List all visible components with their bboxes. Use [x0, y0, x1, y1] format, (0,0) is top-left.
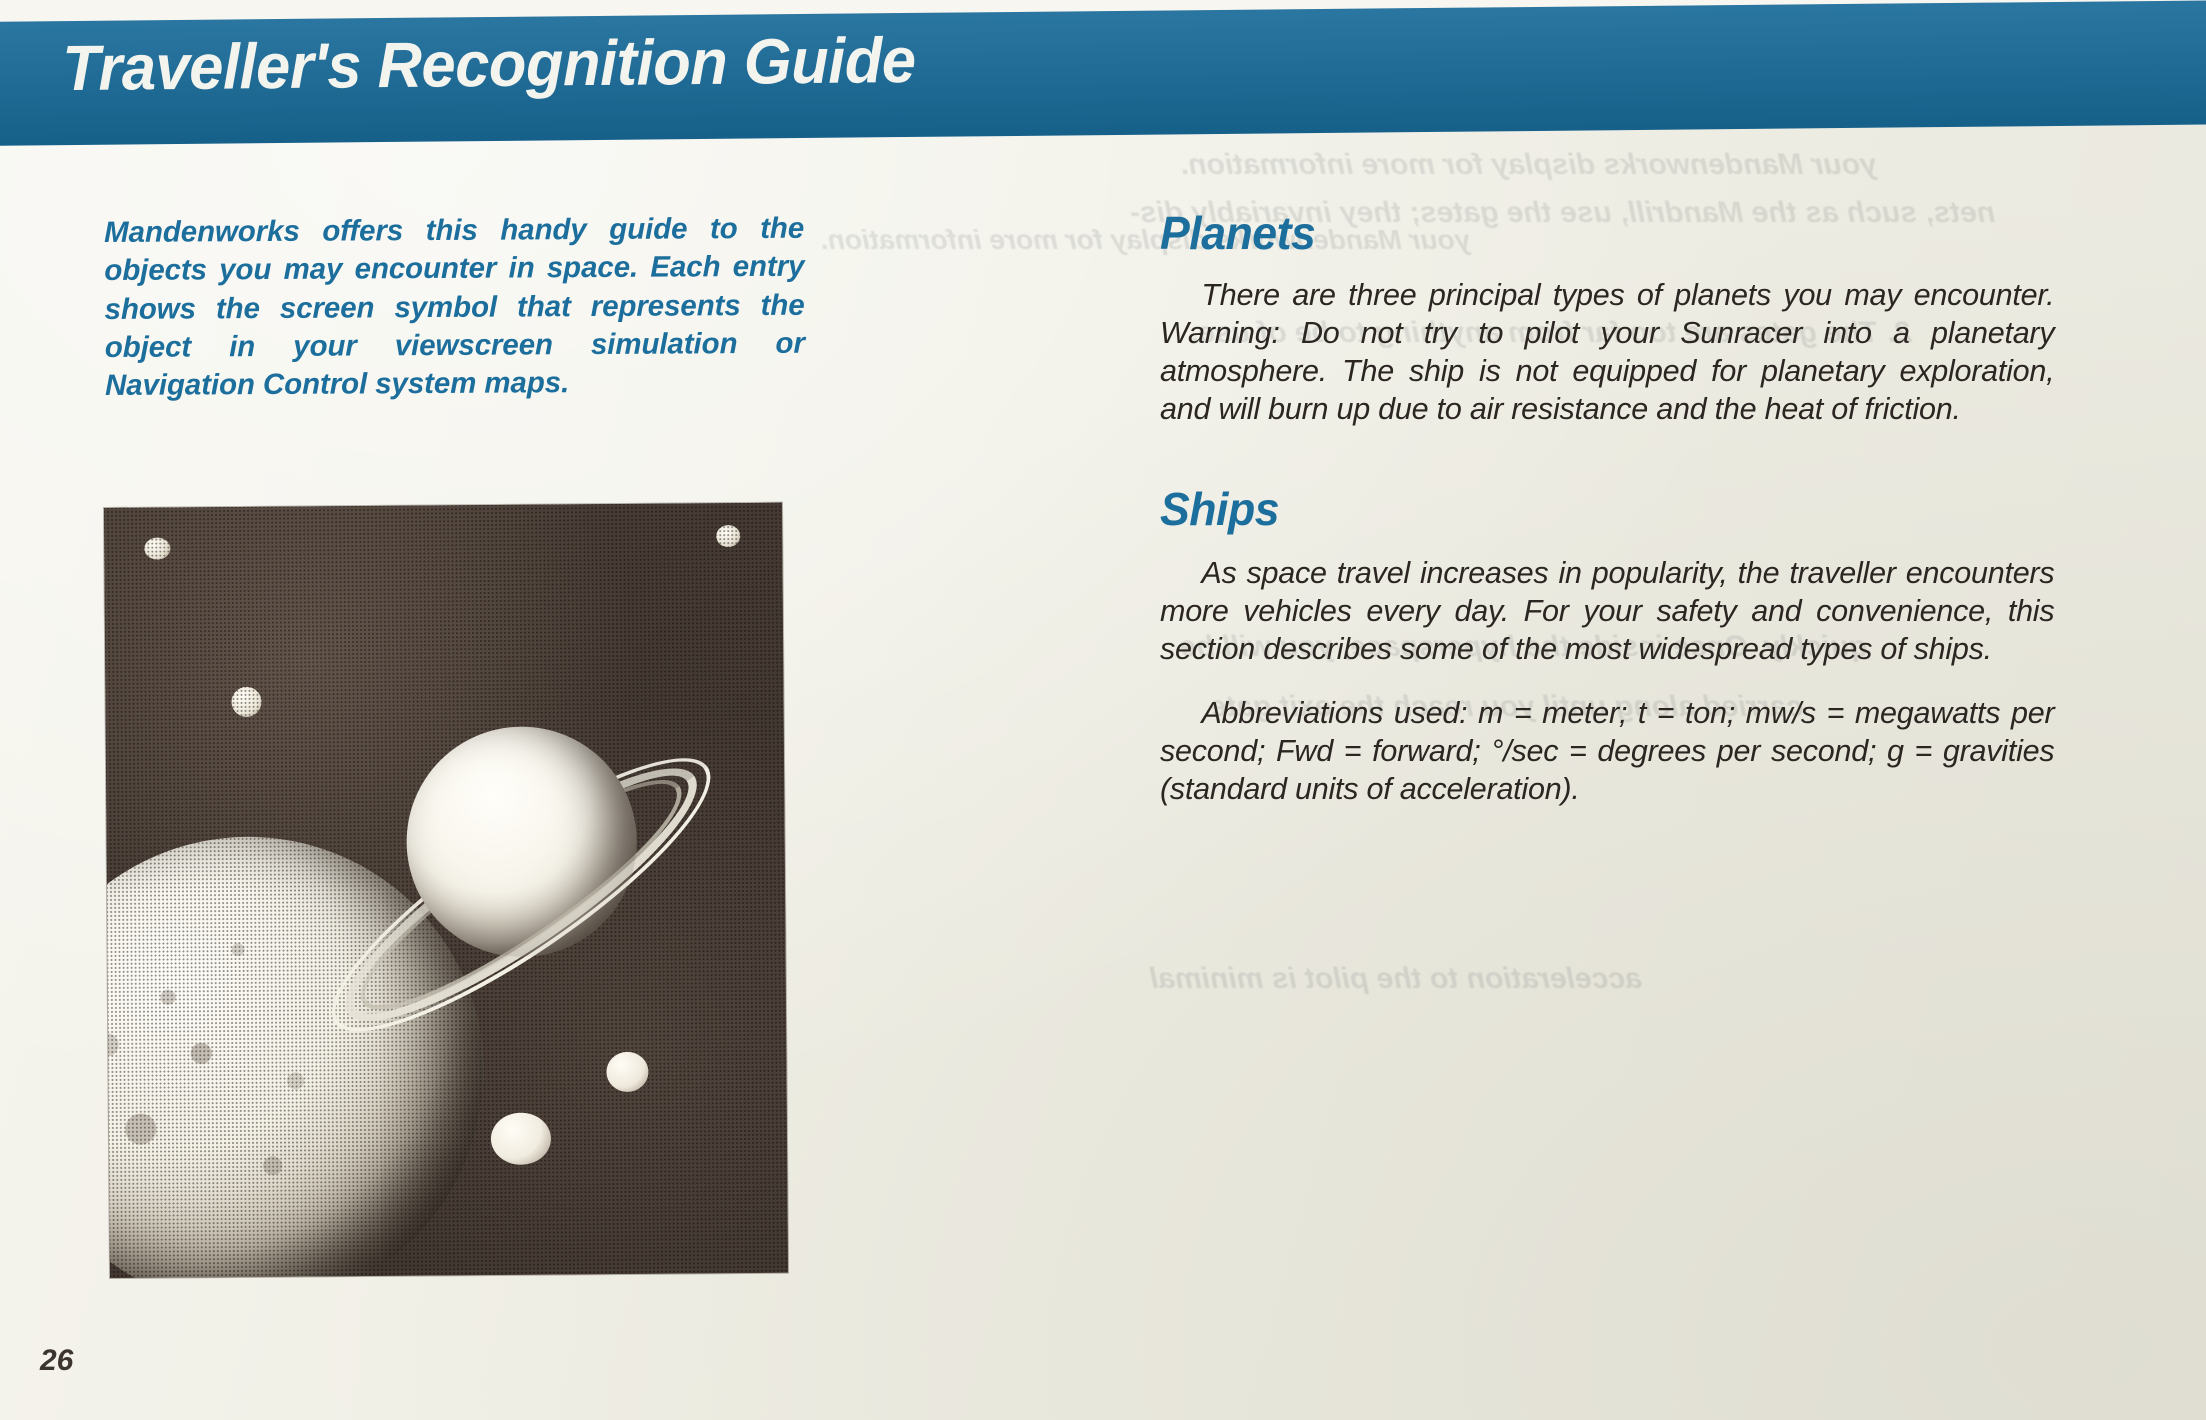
page-title: Traveller's Recognition Guide [62, 23, 916, 105]
document-page: your Mandenworks display for more inform… [0, 0, 2206, 1420]
left-column: Mandenworks offers this handy guide to t… [104, 214, 804, 406]
right-column: Planets There are three principal types … [1160, 206, 2068, 808]
ships-abbreviations-paragraph: Abbreviations used: m = meter; t = ton; … [1160, 694, 2054, 808]
planets-paragraph: There are three principal types of plane… [1160, 276, 2054, 428]
bleedthrough-line-1: your Mandenworks display for more inform… [1180, 148, 1877, 182]
page-header-banner: Traveller's Recognition Guide [0, 0, 2206, 146]
page-number: 26 [40, 1344, 73, 1378]
ships-paragraph-1: As space travel increases in popularity,… [1160, 554, 2054, 668]
section-heading-planets: Planets [1160, 206, 2041, 260]
intro-paragraph: Mandenworks offers this handy guide to t… [104, 210, 805, 406]
section-heading-ships: Ships [1160, 482, 2041, 536]
space-photograph [104, 503, 788, 1278]
small-moon-bottom-center [491, 1113, 551, 1165]
small-moon-bottom-right [606, 1052, 648, 1092]
bleedthrough-line-6: acceleration to the pilot is minimal [1150, 962, 1642, 996]
